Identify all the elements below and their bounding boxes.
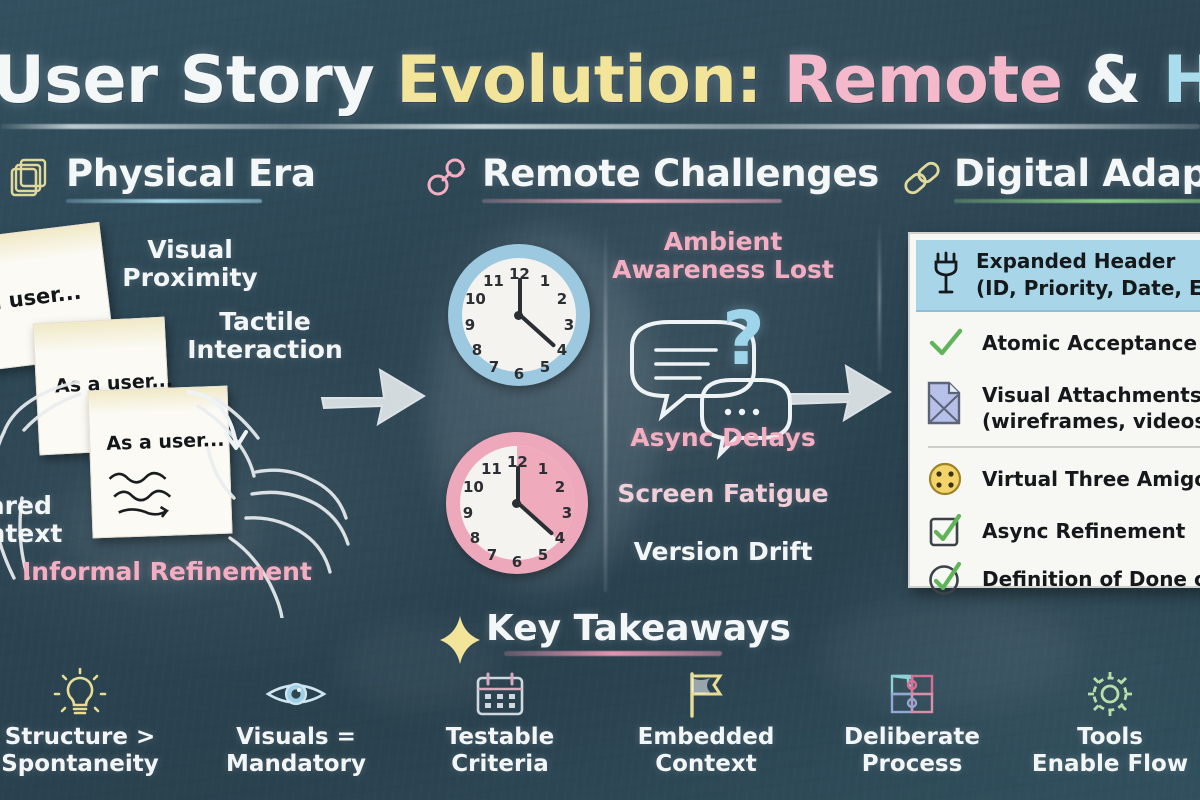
clock-number: 8 [467,340,487,360]
sparkle-star-icon [438,614,482,666]
clock-hour-hand [518,278,522,315]
clock-number: 10 [463,477,483,497]
card-row-text: Definition of Done check [982,566,1200,592]
chalk-stroke [604,222,607,592]
circle-check-icon [928,562,962,596]
card-header-text: Expanded Header (ID, Priority, Date, Epi… [976,248,1200,302]
clock-number: 5 [533,545,553,565]
calendar-icon [400,668,600,720]
clock-number: 10 [465,289,485,309]
label-shared-context: Shared Context [0,492,92,548]
label-ambient-awareness-lost: Ambient Awareness Lost [608,228,838,284]
takeaways-header: Key Takeaways [438,608,791,656]
takeaway-label: Visuals = Mandatory [196,724,396,778]
takeaway-item-tools: Tools Enable Flow [1010,668,1200,778]
section-underline [66,199,262,203]
takeaway-label: Deliberate Process [812,724,1012,778]
three-amigos-icon [928,462,962,496]
clock-number: 8 [465,528,485,548]
clock-number: 1 [535,271,555,291]
section-header-digital-adaptation: Digital Adaptati [898,152,1200,203]
label-version-drift: Version Drift [608,538,838,566]
clock-number: 5 [535,357,555,377]
chain-link-icon [898,154,946,202]
puzzle-icon [812,668,1012,720]
section-title: Physical Era [66,152,316,195]
title-underline [0,124,1200,129]
clock-center [512,499,521,508]
digital-story-card: Expanded Header (ID, Priority, Date, Epi… [908,232,1200,588]
card-row-line1: Visual Attachments [982,382,1200,408]
card-row-text: Virtual Three Amigos [982,466,1200,492]
clock-number: 11 [481,459,501,479]
clock-number: 1 [533,459,553,479]
note-curl [0,223,102,273]
checkbox-checked-icon [928,514,962,548]
pin-icon [932,250,960,296]
arrow-remote-to-digital [784,348,894,432]
card-header-line2: (ID, Priority, Date, Epic) [976,275,1200,302]
clock-number: 3 [559,315,579,335]
clock-number: 9 [458,503,478,523]
title-part: Hybrid [1163,43,1200,118]
label-visual-proximity: Visual Proximity [110,236,270,292]
takeaways-title: Key Takeaways [486,608,791,649]
clock-number: 2 [550,477,570,497]
takeaway-item-testable: Testable Criteria [400,668,600,778]
section-underline [954,199,1200,203]
card-row-text: Visual Attachments (wireframes, videos, … [982,382,1200,434]
title-part: Remote [784,43,1085,118]
card-divider [928,446,1200,448]
title-part: User Story [0,43,396,118]
label-screen-fatigue: Screen Fatigue [608,480,838,508]
clock-center [514,311,523,320]
note-curl [34,318,165,353]
card-row-text: Async Refinement [982,518,1185,544]
gear-icon [1010,668,1200,720]
card-row-text: Atomic Acceptance Crite [982,330,1200,356]
lightbulb-icon [0,668,180,720]
check-mark-icon [928,328,964,358]
clock-hour-hand [516,466,520,503]
clock-number: 2 [552,289,572,309]
clock-number: 6 [509,364,529,384]
pink-clock: 12 1 2 3 4 5 6 7 8 9 10 11 [446,432,588,574]
takeaway-label: Testable Criteria [400,724,600,778]
takeaway-item-visuals: Visuals = Mandatory [196,668,396,778]
clock-number: 9 [460,315,480,335]
eye-icon [196,668,396,720]
clock-number: 6 [507,552,527,572]
page-title: User Story Evolution: Remote & Hybrid Te… [0,40,1200,122]
section-title: Remote Challenges [482,152,879,195]
note-text: As a user... [0,280,83,320]
card-row-line2: (wireframes, videos, APIs [982,408,1200,434]
section-header-physical-era: Physical Era [8,152,316,203]
section-title: Digital Adaptati [954,152,1200,195]
image-file-icon [926,380,964,426]
title-part: & [1085,43,1163,118]
question-mark-icon: ? [722,296,765,382]
curved-arrow-icon [182,378,252,458]
chalkboard-infographic: User Story Evolution: Remote & Hybrid Te… [0,0,1200,800]
label-informal-refinement: Informal Refinement [22,558,282,586]
clock-number: 3 [557,503,577,523]
section-underline [482,199,782,203]
takeaway-label: Tools Enable Flow [1010,724,1200,778]
blue-clock: 12 1 2 3 4 5 6 7 8 9 10 11 [448,244,590,386]
takeaway-label: Structure > Spontaneity [0,724,180,778]
takeaway-label: Embedded Context [606,724,806,778]
broken-link-icon [424,154,472,202]
section-header-remote-challenges: Remote Challenges [424,152,879,203]
takeaway-item-embedded: Embedded Context [606,668,806,778]
clock-number: 7 [484,357,504,377]
takeaway-item-deliberate: Deliberate Process [812,668,1012,778]
takeaways-underline [504,651,722,656]
card-header: Expanded Header (ID, Priority, Date, Epi… [916,240,1200,312]
title-part: Evolution: [396,43,783,118]
clock-number: 11 [483,271,503,291]
stacked-cards-icon [8,154,54,200]
arrow-physical-to-remote [318,352,428,436]
flag-icon [606,668,806,720]
card-header-line1: Expanded Header [976,248,1200,275]
clock-number: 7 [482,545,502,565]
takeaway-item-structure: Structure > Spontaneity [0,668,180,778]
scribble-lines [107,463,219,527]
